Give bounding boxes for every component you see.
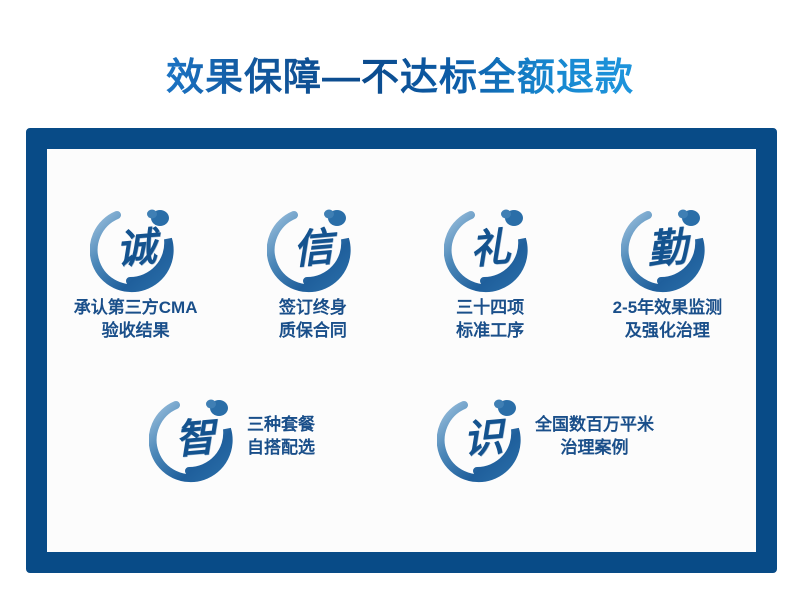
content-frame: 诚 承认第三方CMA 验收结果 <box>26 128 777 573</box>
feature-item: 智 三种套餐 自搭配选 <box>149 391 315 483</box>
feature-caption: 全国数百万平米 治理案例 <box>535 414 654 460</box>
feature-caption: 2-5年效果监测 及强化治理 <box>613 297 723 343</box>
feature-caption: 签订终身 质保合同 <box>279 297 347 343</box>
feature-caption: 三种套餐 自搭配选 <box>247 414 315 460</box>
caption-line-1: 三种套餐 <box>247 414 315 437</box>
feature-item: 识 全国数百万平米 治理案例 <box>437 391 654 483</box>
seal-qin: 勤 <box>621 201 713 293</box>
page-title: 效果保障—不达标全额退款 <box>166 57 634 101</box>
caption-line-2: 标准工序 <box>456 320 524 343</box>
seal-character: 礼 <box>440 197 540 297</box>
feature-caption: 承认第三方CMA 验收结果 <box>74 297 198 343</box>
seal-xin: 信 <box>267 201 359 293</box>
caption-line-2: 自搭配选 <box>247 437 315 460</box>
seal-character: 诚 <box>86 197 186 297</box>
caption-line-1: 全国数百万平米 <box>535 414 654 437</box>
feature-item: 礼 三十四项 标准工序 <box>406 201 574 343</box>
caption-line-2: 治理案例 <box>535 437 654 460</box>
seal-cheng: 诚 <box>90 201 182 293</box>
caption-line-1: 2-5年效果监测 <box>613 297 723 320</box>
seal-character: 勤 <box>618 197 718 297</box>
feature-row-top: 诚 承认第三方CMA 验收结果 <box>47 201 756 343</box>
feature-caption: 三十四项 标准工序 <box>456 297 524 343</box>
caption-line-1: 签订终身 <box>279 297 347 320</box>
feature-item: 信 签订终身 质保合同 <box>229 201 397 343</box>
feature-item: 诚 承认第三方CMA 验收结果 <box>52 201 220 343</box>
caption-line-1: 承认第三方CMA <box>74 297 198 320</box>
caption-line-2: 验收结果 <box>74 320 198 343</box>
seal-zhi: 智 <box>149 391 241 483</box>
page-header: 效果保障—不达标全额退款 <box>0 32 800 127</box>
caption-line-2: 及强化治理 <box>613 320 723 343</box>
seal-character: 智 <box>145 387 245 487</box>
seal-shi: 识 <box>437 391 529 483</box>
caption-line-2: 质保合同 <box>279 320 347 343</box>
content-panel: 诚 承认第三方CMA 验收结果 <box>47 149 756 552</box>
seal-li: 礼 <box>444 201 536 293</box>
seal-character: 识 <box>433 387 533 487</box>
seal-character: 信 <box>263 197 363 297</box>
feature-item: 勤 2-5年效果监测 及强化治理 <box>583 201 751 343</box>
caption-line-1: 三十四项 <box>456 297 524 320</box>
feature-row-bottom: 智 三种套餐 自搭配选 <box>47 391 756 483</box>
